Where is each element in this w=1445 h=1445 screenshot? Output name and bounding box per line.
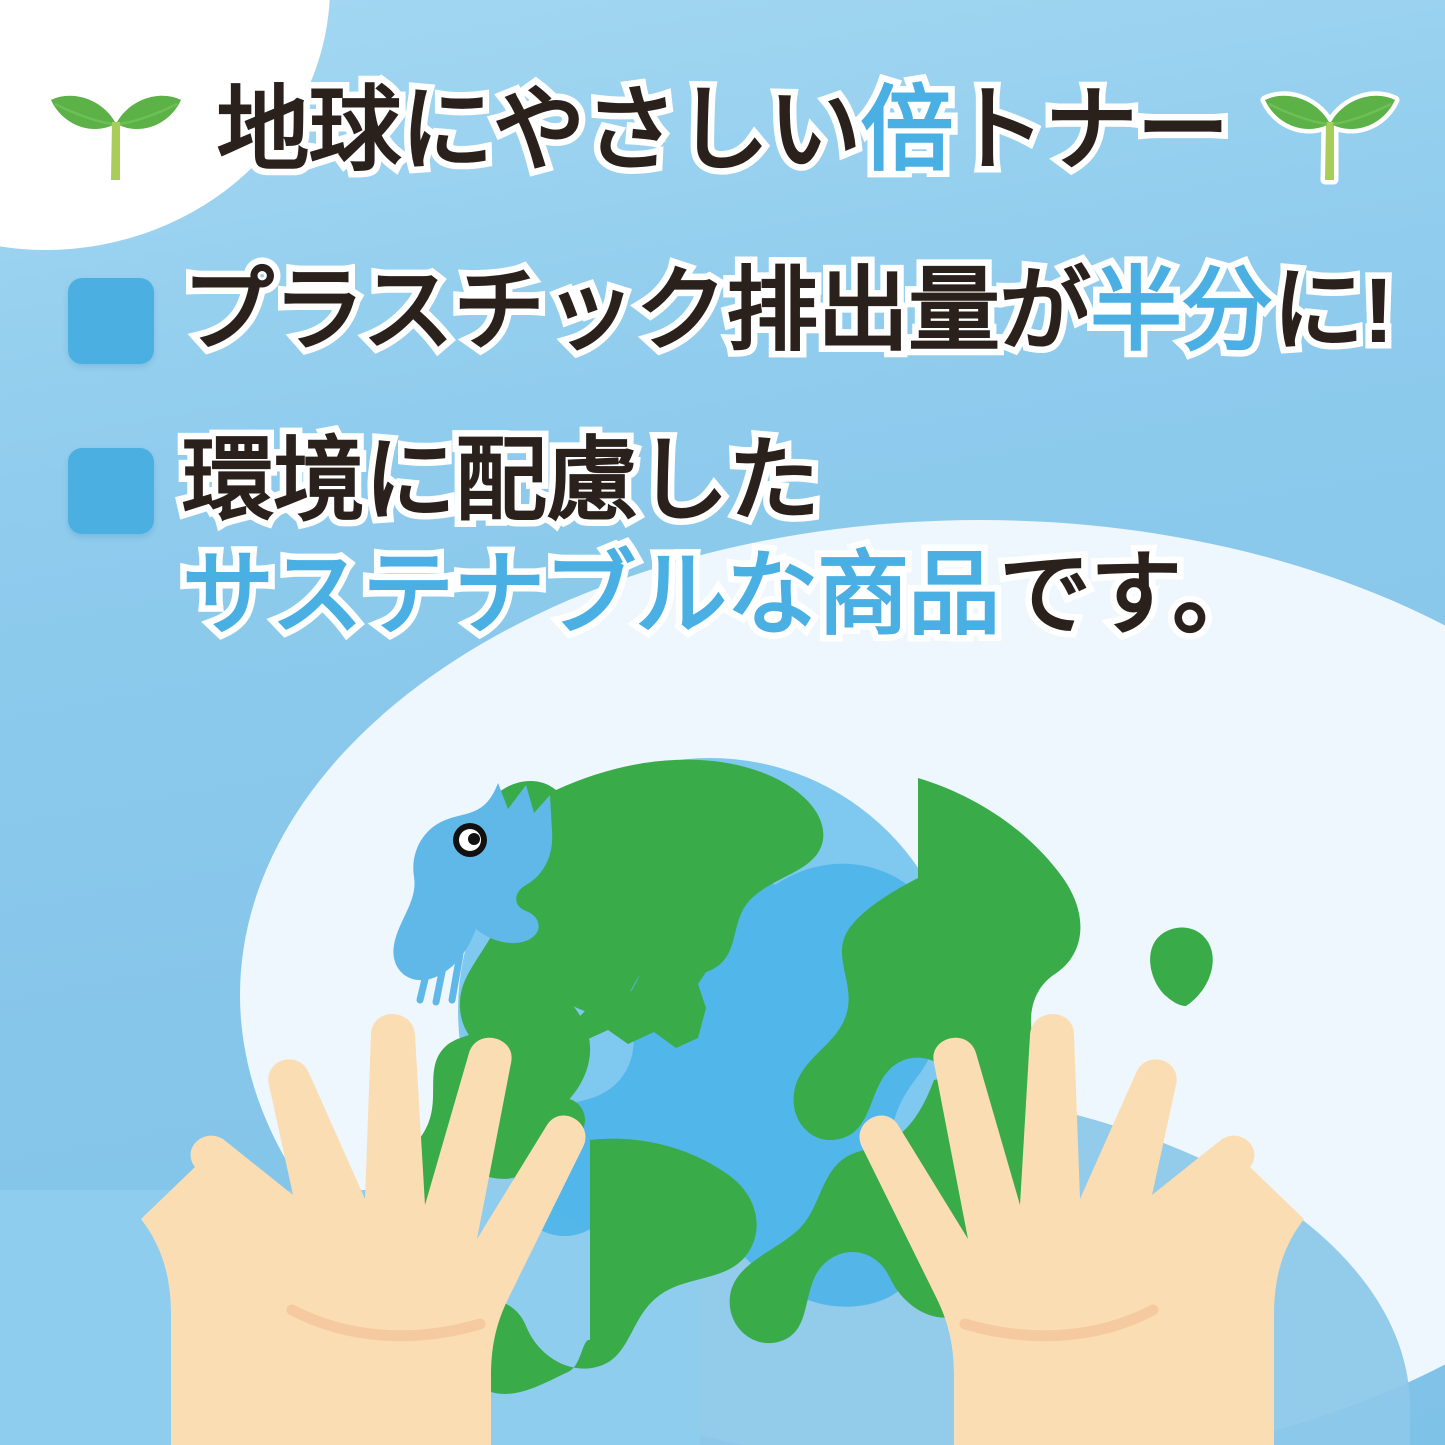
bullet1-seg1: プラスチック排出量が — [182, 260, 1090, 362]
bullet-text-sustainable-line1: 環境に配慮した — [182, 432, 819, 531]
bullet1-seg3: に! — [1272, 260, 1393, 362]
bullet-list: プラスチック排出量が半分に! 環境に配慮した サステナブルな商品です。 — [0, 262, 1445, 645]
banner-root: 地球にやさしい倍トナー プラスチック排出量が半分に! — [0, 0, 1445, 1445]
bullet-row-sustainable: 環境に配慮した — [0, 432, 1445, 540]
headline: 地球にやさしい倍トナー — [217, 84, 1229, 177]
illustration-group — [0, 0, 1445, 1445]
headline-part1: 地球にやさしい — [217, 78, 861, 182]
blue-square-bullet-icon — [68, 278, 154, 364]
bullet2-seg2: です。 — [999, 544, 1263, 646]
header: 地球にやさしい倍トナー — [0, 60, 1445, 200]
bullet2-seg1-highlight: サステナブルな商品 — [182, 544, 999, 646]
bullet-row-plastic: プラスチック排出量が半分に! — [0, 262, 1445, 370]
bullet-text-sustainable-line2: サステナブルな商品です。 — [0, 546, 1445, 645]
headline-highlight: 倍 — [861, 78, 953, 182]
headline-part2: トナー — [953, 78, 1229, 182]
blue-square-bullet-icon — [68, 448, 154, 534]
sprout-icon — [1255, 68, 1405, 193]
sprout-icon — [41, 68, 191, 193]
bullet1-seg2-highlight: 半分 — [1090, 260, 1272, 362]
bullet-text-plastic: プラスチック排出量が半分に! — [182, 262, 1393, 361]
